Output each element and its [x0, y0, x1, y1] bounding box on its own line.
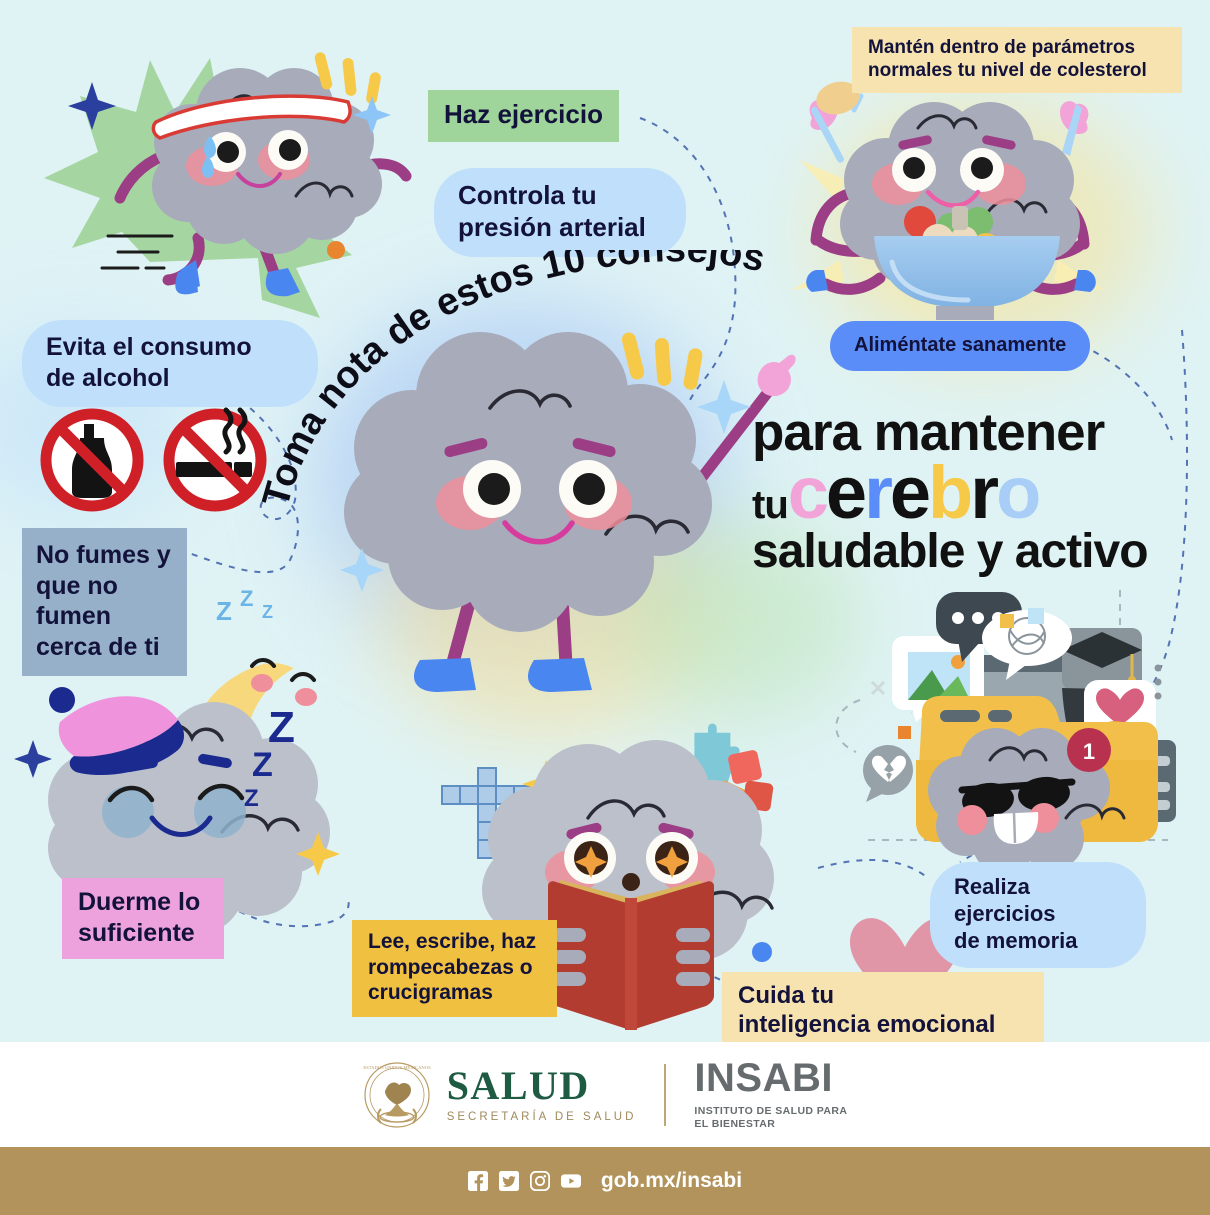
book-icon — [548, 880, 714, 1030]
curved-title-text: Toma nota de estos 10 consejos — [255, 250, 769, 512]
youtube-icon[interactable] — [561, 1171, 581, 1191]
cerebro-letter-r-2: r — [864, 451, 890, 534]
tip-label-cuida[interactable]: Cuida tu inteligencia emocional — [722, 972, 1044, 1042]
svg-text:Z: Z — [268, 703, 295, 752]
tip-label-lee[interactable]: Lee, escribe, haz rompecabezas o crucigr… — [352, 920, 557, 1017]
infographic-poster: Z Z Z — [0, 0, 1210, 1215]
cerebro-letter-r-5: r — [970, 451, 996, 534]
curved-title-textpath: Toma nota de estos 10 consejos — [255, 250, 769, 512]
cerebro-letter-e-3: e — [890, 451, 928, 534]
logo-divider — [664, 1064, 666, 1126]
salud-logo: ESTADOS UNIDOS MEXICANOS SALUD SECRETARÍ… — [363, 1057, 637, 1133]
tip-label-fumes[interactable]: No fumes y que no fumen cerca de ti — [22, 528, 187, 676]
twitter-icon[interactable] — [499, 1171, 519, 1191]
facebook-icon[interactable] — [468, 1171, 488, 1191]
tip-label-duerme[interactable]: Duerme lo suficiente — [62, 878, 224, 959]
insabi-subtitle: INSTITUTO DE SALUD PARA EL BIENESTAR — [694, 1105, 847, 1131]
salud-title: SALUD — [447, 1066, 637, 1106]
bottom-bar: gob.mx/insabi — [0, 1147, 1210, 1215]
tip-label-ejercicio[interactable]: Haz ejercicio — [428, 90, 619, 142]
tip-label-memoria[interactable]: Realiza ejercicios de memoria — [930, 862, 1146, 968]
illustration-canvas: Z Z Z — [0, 0, 1210, 1042]
memory-brain-illustration: 1 — [836, 590, 1176, 874]
svg-text:Z: Z — [262, 602, 273, 622]
svg-text:ESTADOS UNIDOS MEXICANOS: ESTADOS UNIDOS MEXICANOS — [363, 1065, 431, 1070]
svg-text:Z: Z — [240, 586, 253, 611]
cerebro-letter-b-4: b — [928, 451, 970, 534]
website-url[interactable]: gob.mx/insabi — [601, 1169, 742, 1193]
instagram-icon[interactable] — [530, 1171, 550, 1191]
salud-subtitle: SECRETARÍA DE SALUD — [447, 1111, 637, 1123]
cerebro-letter-e-1: e — [826, 451, 864, 534]
footer-logos: ESTADOS UNIDOS MEXICANOS SALUD SECRETARÍ… — [0, 1042, 1210, 1147]
tip-label-colesterol[interactable]: Mantén dentro de parámetros normales tu … — [852, 27, 1182, 93]
eating-brain-illustration — [792, 77, 1104, 333]
insabi-logo: INSABI INSTITUTO DE SALUD PARA EL BIENES… — [694, 1058, 847, 1131]
cerebro-letter-o-6: o — [996, 451, 1038, 534]
no-alcohol-sign — [46, 414, 138, 506]
broken-heart-bubble-icon — [863, 745, 913, 802]
notification-badge: 1 — [1067, 728, 1111, 772]
connector-dot — [752, 942, 772, 962]
svg-text:Z: Z — [244, 785, 259, 812]
tip-label-alimenta[interactable]: Aliméntate sanamente — [830, 321, 1090, 371]
mexico-seal-icon: ESTADOS UNIDOS MEXICANOS — [363, 1057, 431, 1133]
insabi-title: INSABI — [694, 1058, 847, 1098]
no-smoking-sign — [169, 410, 261, 506]
svg-text:Z: Z — [252, 746, 273, 784]
tip-label-presion[interactable]: Controla tu presión arterial — [434, 168, 686, 257]
svg-text:1: 1 — [1083, 739, 1095, 764]
svg-text:Z: Z — [216, 596, 232, 626]
curved-title: Toma nota de estos 10 consejos — [250, 250, 830, 540]
